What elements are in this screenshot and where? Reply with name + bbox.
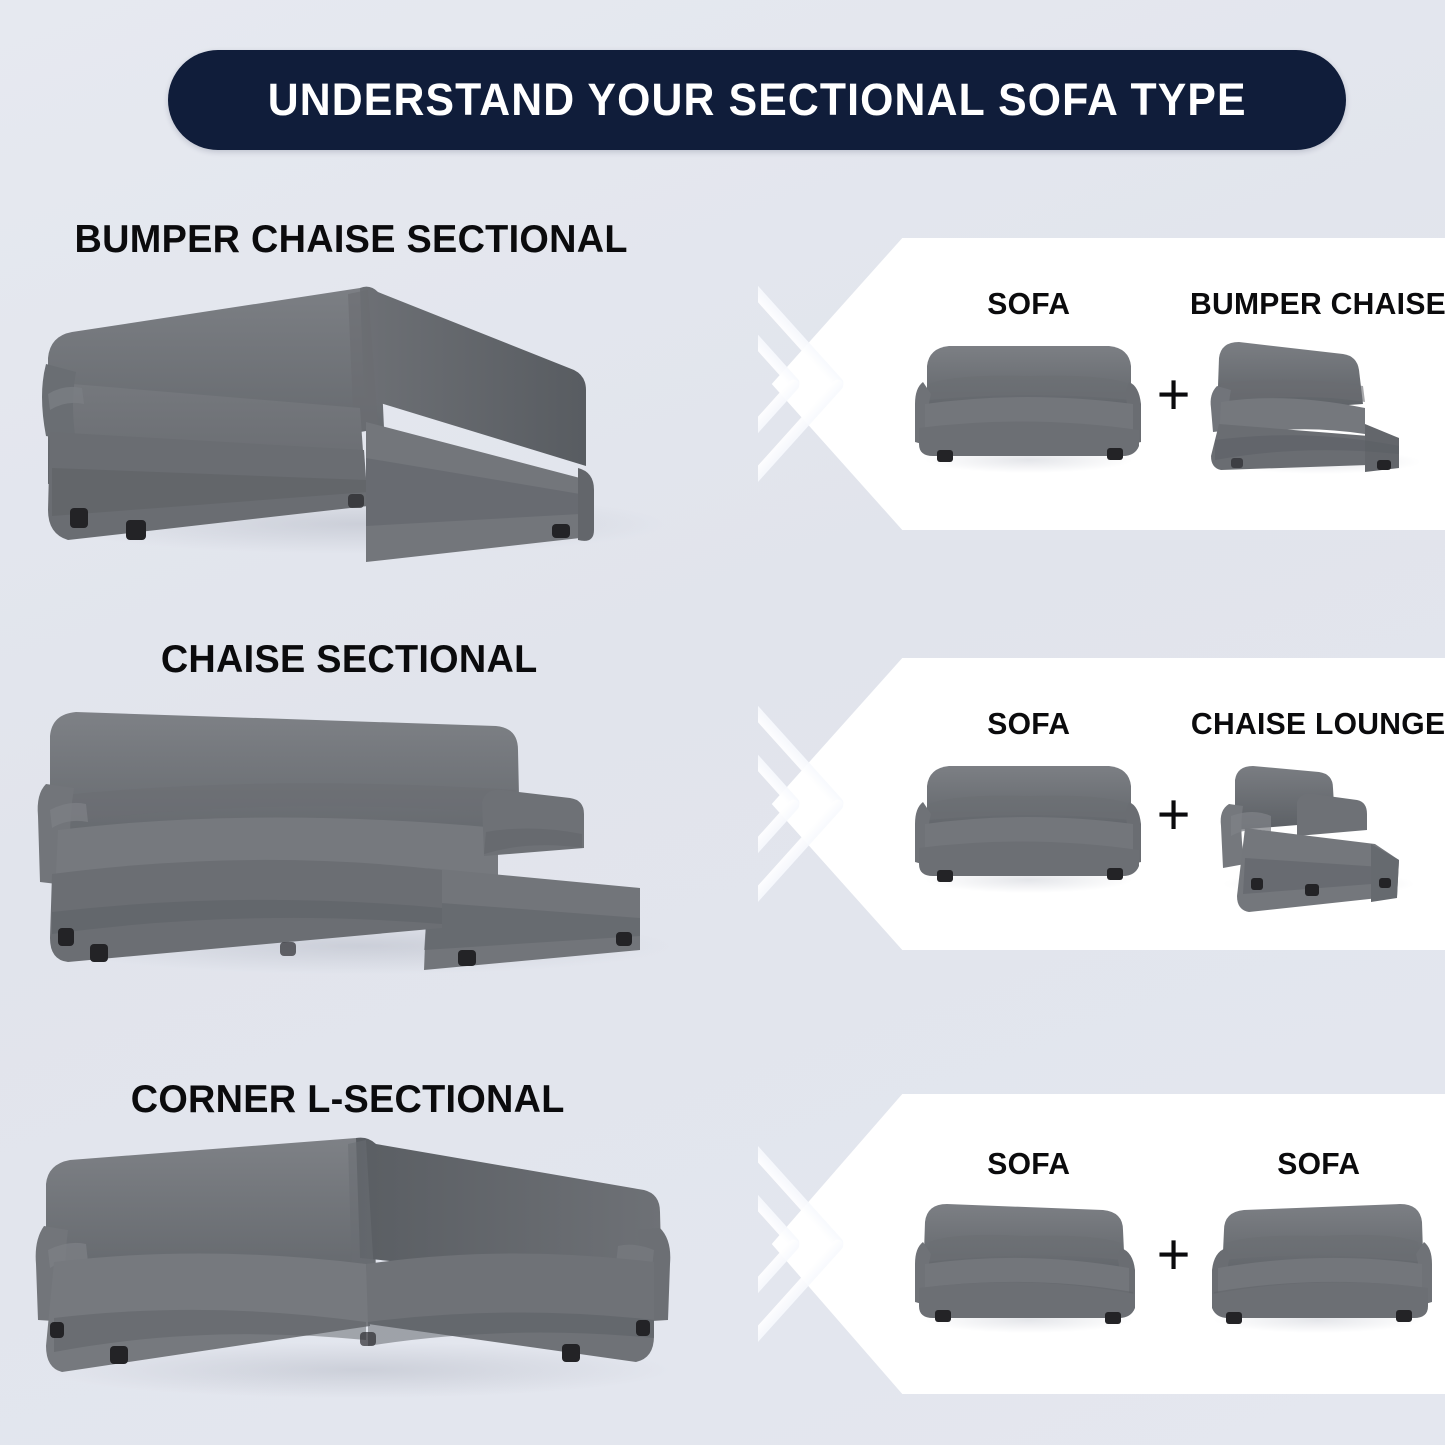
hero-bumper-chaise-sectional <box>30 272 690 562</box>
chaise-lounge-illustration <box>1201 752 1436 902</box>
part-label: SOFA <box>987 1146 1070 1182</box>
section-corner-l-sectional: CORNER L-SECTIONAL <box>0 1060 1445 1415</box>
chevron-accent-icon <box>810 1094 870 1394</box>
plus-operator-icon: + <box>1153 1238 1195 1273</box>
breakdown-panel: SOFA <box>758 238 1445 530</box>
part-sofa: SOFA <box>911 706 1146 902</box>
section-title: CORNER L-SECTIONAL <box>131 1078 565 1122</box>
section-title: BUMPER CHAISE SECTIONAL <box>75 218 628 262</box>
part-chaise-lounge: CHAISE LOUNGE <box>1201 706 1436 902</box>
sofa-illustration <box>911 332 1146 482</box>
breakdown-panel: SOFA <box>758 1094 1445 1394</box>
sofa-illustration <box>911 1192 1146 1342</box>
part-label: SOFA <box>987 286 1070 322</box>
part-label: SOFA <box>1277 1146 1360 1182</box>
part-bumper-chaise: BUMPER CHAISE <box>1201 286 1436 482</box>
sofa-illustration <box>1201 1192 1436 1342</box>
page-title: UNDERSTAND YOUR SECTIONAL SOFA TYPE <box>268 74 1247 126</box>
part-label: SOFA <box>987 706 1070 742</box>
plus-operator-icon: + <box>1153 378 1195 413</box>
part-sofa: SOFA <box>911 1146 1146 1342</box>
infographic-canvas: UNDERSTAND YOUR SECTIONAL SOFA TYPE BUMP… <box>0 0 1445 1445</box>
part-sofa-mirrored: SOFA <box>1201 1146 1436 1342</box>
part-label: BUMPER CHAISE <box>1190 286 1445 322</box>
section-chaise-sectional: CHAISE SECTIONAL <box>0 620 1445 1000</box>
plus-operator-icon: + <box>1153 798 1195 833</box>
chevron-accent-icon <box>810 238 870 530</box>
hero-corner-l-sectional <box>30 1122 690 1412</box>
chevron-accent-icon <box>810 658 870 950</box>
header-banner: UNDERSTAND YOUR SECTIONAL SOFA TYPE <box>168 50 1346 150</box>
breakdown-panel: SOFA <box>758 658 1445 950</box>
hero-chaise-sectional <box>30 690 690 980</box>
part-sofa: SOFA <box>911 286 1146 482</box>
section-bumper-chaise-sectional: BUMPER CHAISE SECTIONAL <box>0 200 1445 580</box>
bumper-chaise-illustration <box>1201 332 1436 482</box>
part-label: CHAISE LOUNGE <box>1191 706 1445 742</box>
section-title: CHAISE SECTIONAL <box>161 638 538 682</box>
sofa-illustration <box>911 752 1146 902</box>
